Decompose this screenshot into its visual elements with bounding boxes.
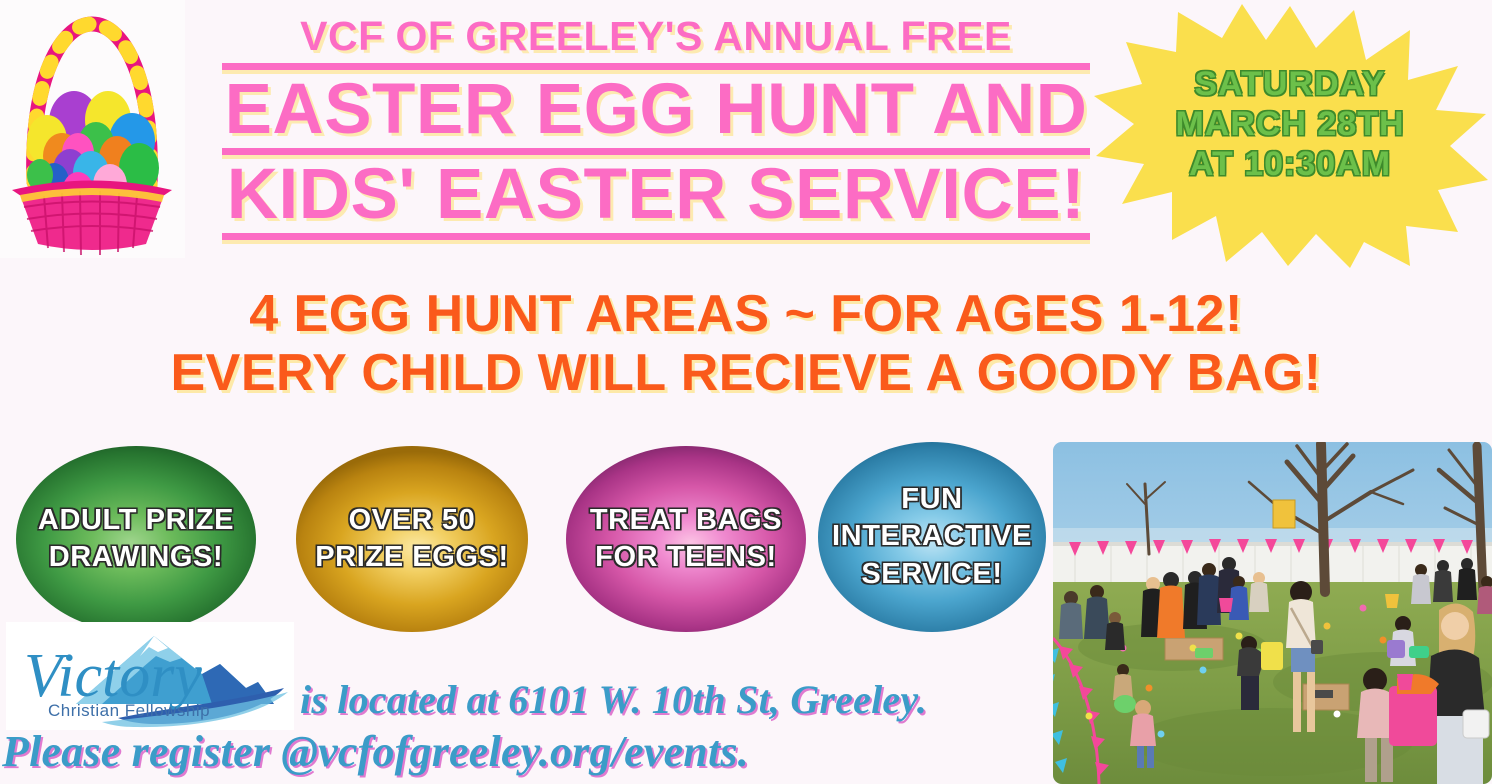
event-details-block: 4 EGG HUNT AREAS ~ FOR AGES 1-12! EVERY … <box>0 288 1492 400</box>
logo-wordmark: Victory <box>24 642 202 710</box>
headline-line-2: EASTER EGG HUNT AND <box>222 74 1090 145</box>
easter-basket-image <box>0 0 185 258</box>
egg-badge-line-1: OVER 50 <box>315 502 509 539</box>
event-photo <box>1053 442 1492 784</box>
headline-rule-2 <box>222 148 1090 155</box>
feature-egg-badges: ADULT PRIZE DRAWINGS! OVER 50 PRIZE EGGS… <box>0 440 1045 635</box>
starburst-text: SATURDAY MARCH 28TH AT 10:30AM <box>1092 64 1488 184</box>
egg-badge-fun-interactive-service: FUN INTERACTIVE SERVICE! <box>818 442 1046 632</box>
egg-badge-line-1: TREAT BAGS <box>590 502 782 539</box>
location-text: is located at 6101 W. 10th St, Greeley. <box>300 676 927 723</box>
headline-rule-1 <box>222 63 1090 70</box>
register-text: Please register @vcfofgreeley.org/events… <box>2 726 749 777</box>
easter-event-flyer: VCF OF GREELEY'S ANNUAL FREE EASTER EGG … <box>0 0 1492 784</box>
egg-badge-line-1: FUN <box>832 481 1032 518</box>
egg-badge-line-2: INTERACTIVE <box>832 518 1032 555</box>
egg-badge-label: TREAT BAGS FOR TEENS! <box>582 502 790 576</box>
egg-badge-adult-prize-drawings: ADULT PRIZE DRAWINGS! <box>16 446 256 632</box>
egg-badge-line-2: FOR TEENS! <box>590 539 782 576</box>
logo-tagline: Christian Fellowship <box>48 701 210 720</box>
egg-badge-label: OVER 50 PRIZE EGGS! <box>307 502 517 576</box>
egg-badge-line-3: SERVICE! <box>832 556 1032 593</box>
detail-line-2: EVERY CHILD WILL RECIEVE A GOODY BAG! <box>0 347 1492 400</box>
egg-badge-line-2: DRAWINGS! <box>38 539 234 576</box>
egg-badge-label: ADULT PRIZE DRAWINGS! <box>30 502 242 576</box>
headline-block: VCF OF GREELEY'S ANNUAL FREE EASTER EGG … <box>222 16 1090 242</box>
starburst-line-1: SATURDAY <box>1092 64 1488 104</box>
date-starburst-badge: SATURDAY MARCH 28TH AT 10:30AM <box>1092 4 1488 268</box>
detail-line-1: 4 EGG HUNT AREAS ~ FOR AGES 1-12! <box>0 288 1492 341</box>
egg-badge-over-50-prize-eggs: OVER 50 PRIZE EGGS! <box>296 446 528 632</box>
egg-badge-treat-bags-for-teens: TREAT BAGS FOR TEENS! <box>566 446 806 632</box>
headline-line-1: VCF OF GREELEY'S ANNUAL FREE <box>222 16 1090 57</box>
egg-badge-line-2: PRIZE EGGS! <box>315 539 509 576</box>
starburst-line-2: MARCH 28TH <box>1092 104 1488 144</box>
egg-badge-line-1: ADULT PRIZE <box>38 502 234 539</box>
victory-christian-fellowship-logo: Victory Christian Fellowship <box>6 622 294 730</box>
headline-rule-3 <box>222 233 1090 240</box>
egg-badge-label: FUN INTERACTIVE SERVICE! <box>824 481 1040 592</box>
starburst-line-3: AT 10:30AM <box>1092 144 1488 184</box>
headline-line-3: KIDS' EASTER SERVICE! <box>222 159 1090 230</box>
